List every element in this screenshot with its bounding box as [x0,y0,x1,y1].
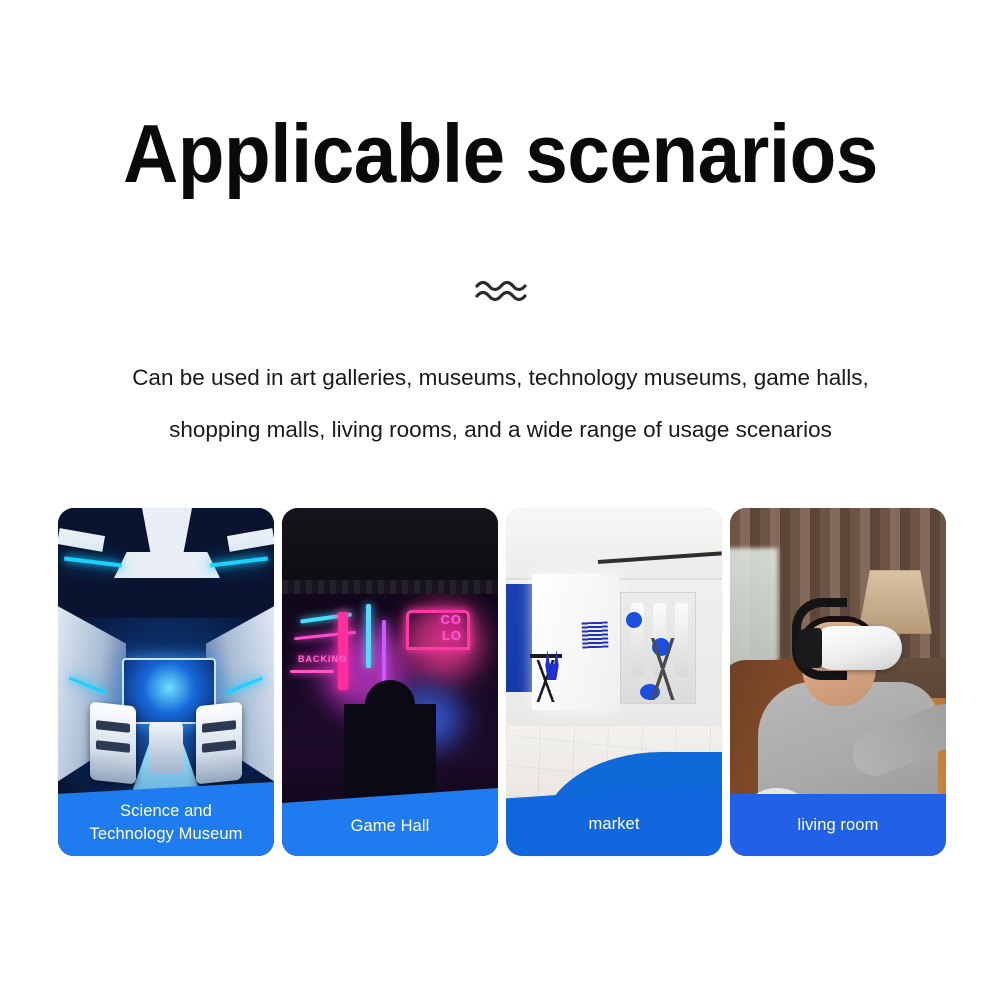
caption-line-2: Technology Museum [89,823,242,846]
caption-line-1: living room [798,814,879,837]
scenario-card-game-hall[interactable]: CO LO BACKING Game Hall [282,508,498,856]
page-subtitle: Can be used in art galleries, museums, t… [61,352,941,456]
scenario-card-living-room[interactable]: living room [730,508,946,856]
scenario-card-science-and-technology-museum[interactable]: Science and Technology Museum [58,508,274,856]
scenario-card-row: Science and Technology Museum CO [58,508,946,856]
scenario-card-market[interactable]: market [506,508,722,856]
subtitle-line-2: shopping malls, living rooms, and a wide… [61,404,941,456]
subtitle-line-1: Can be used in art galleries, museums, t… [61,352,941,404]
scenario-caption-living-room: living room [730,794,946,856]
caption-line-1: Game Hall [351,815,430,838]
scenario-caption-science-and-technology-museum: Science and Technology Museum [58,782,274,856]
wave-divider-icon [474,276,528,306]
scenarios-page: Applicable scenarios Can be used in art … [0,0,1001,1001]
caption-line-1: market [588,813,639,836]
caption-line-1: Science and [120,800,212,823]
page-title: Applicable scenarios [40,108,961,200]
